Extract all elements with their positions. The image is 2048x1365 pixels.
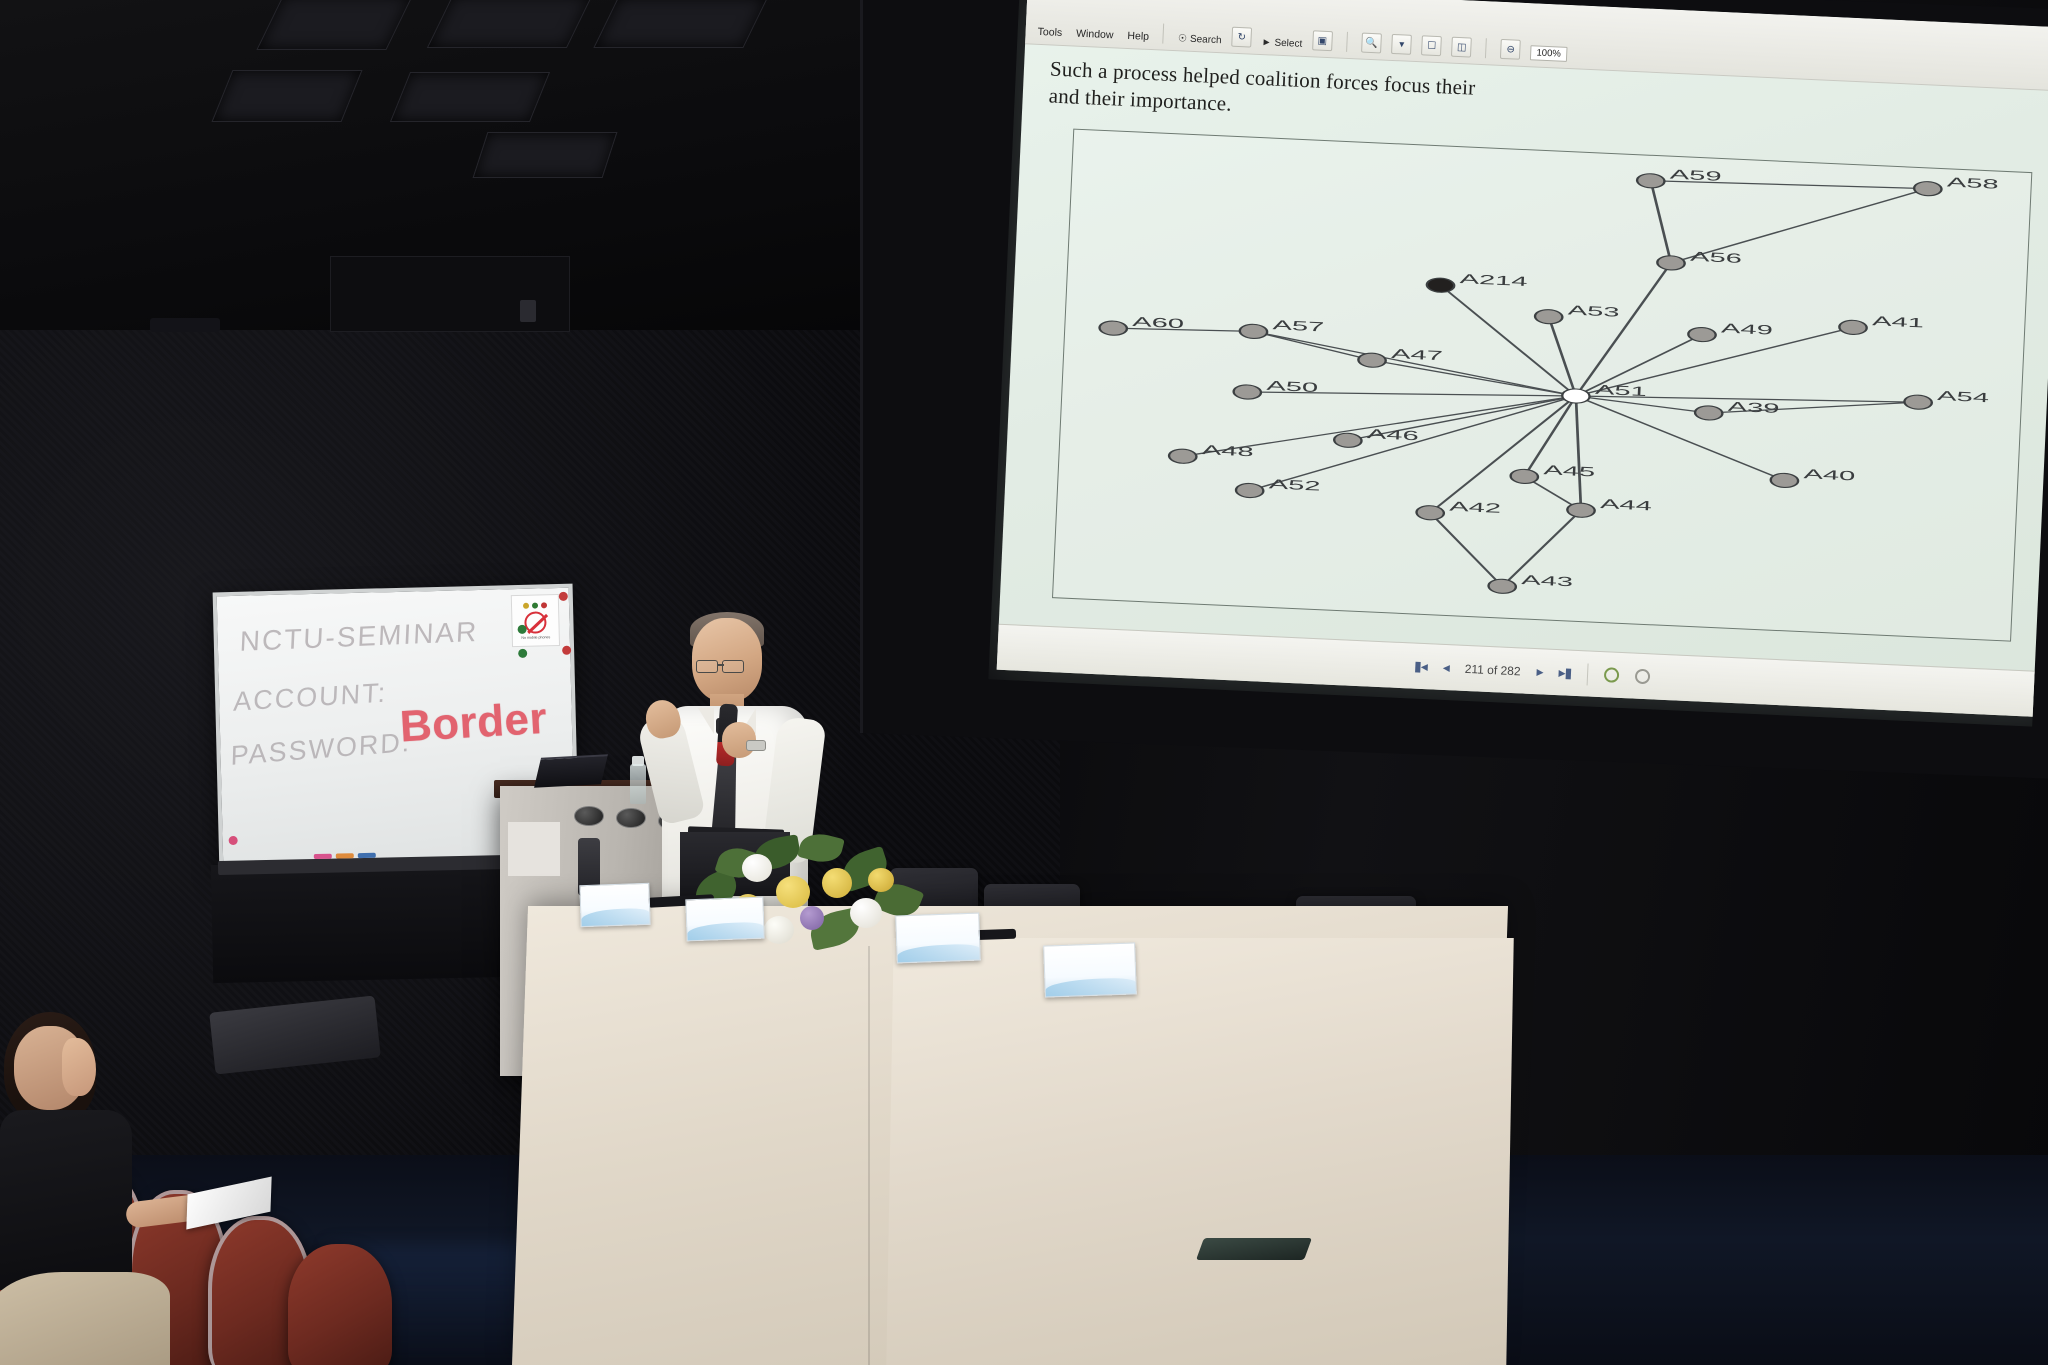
- audience-member-lap: [0, 1272, 170, 1365]
- graph-node: A56: [1657, 247, 1742, 273]
- toolbar-separator-2: [1346, 32, 1348, 52]
- fit-page-icon[interactable]: ☐: [1421, 35, 1442, 56]
- podium-speaker-grille-1: [574, 806, 604, 826]
- graph-node-label: A45: [1543, 462, 1595, 479]
- graph-node-label: A46: [1367, 426, 1419, 443]
- sign-color-dots: [523, 602, 547, 609]
- last-page-icon[interactable]: ▸▮: [1558, 664, 1571, 682]
- magnet-red-1: [559, 592, 568, 601]
- graph-node-label: A56: [1690, 249, 1742, 266]
- graph-node-label: A57: [1272, 317, 1324, 334]
- magnet-pink-1: [229, 836, 238, 845]
- chevron-down-icon[interactable]: ▾: [1391, 34, 1412, 55]
- graph-node-label: A43: [1521, 572, 1573, 589]
- graph-node: A43: [1488, 571, 1573, 597]
- snapshot-icon[interactable]: ▣: [1312, 30, 1333, 51]
- graph-node: A214: [1427, 270, 1528, 296]
- page-indicator: 211 of 282: [1464, 661, 1520, 678]
- eyeglasses-right-lens-icon: [722, 660, 744, 673]
- podium-speaker-grille-2: [616, 808, 646, 828]
- fit-width-icon[interactable]: ◫: [1451, 37, 1472, 58]
- graph-node: A50: [1233, 377, 1318, 403]
- marker-orange: [336, 853, 354, 858]
- graph-edge: [1371, 360, 1577, 396]
- graph-node-label: A42: [1449, 499, 1501, 516]
- nameplate-4: [1043, 942, 1137, 997]
- no-mobile-phones-sign: No mobile phones: [511, 594, 560, 647]
- select-tool[interactable]: ► Select: [1261, 37, 1302, 50]
- magnet-red-2: [562, 646, 571, 655]
- search-icon: ☉: [1178, 33, 1187, 44]
- flower-yellow-1: [776, 876, 810, 908]
- zoom-level-field[interactable]: 100%: [1530, 45, 1567, 62]
- next-page-icon[interactable]: ▸: [1536, 663, 1543, 680]
- graph-node: A60: [1099, 313, 1184, 339]
- flower-yellow-4: [868, 868, 894, 892]
- flower-white-3: [764, 916, 794, 944]
- toolbar-separator-3: [1485, 38, 1487, 58]
- table-seam: [868, 946, 870, 1365]
- zoom-out-icon[interactable]: ⊖: [1500, 39, 1521, 60]
- graph-node-label: A60: [1132, 314, 1184, 331]
- graph-node-label: A47: [1391, 346, 1443, 363]
- no-phone-icon: [524, 611, 547, 634]
- graph-node-label: A41: [1872, 313, 1924, 330]
- podium-laptop[interactable]: [534, 754, 608, 787]
- graph-node: A45: [1510, 461, 1595, 487]
- magnet-green-2: [518, 649, 527, 658]
- graph-node-label: A52: [1268, 477, 1320, 494]
- graph-node-label: A58: [1947, 175, 1999, 192]
- first-page-icon[interactable]: ▮◂: [1414, 658, 1427, 676]
- nameplate-1: [579, 883, 650, 927]
- toolbar-separator: [1163, 24, 1165, 44]
- select-label: Select: [1274, 38, 1302, 50]
- graph-node-label: A54: [1937, 388, 1989, 405]
- graph-node-label: A40: [1803, 466, 1855, 483]
- eyeglasses-left-lens-icon: [696, 660, 718, 673]
- whiteboard-title-text: NCTU-SEMINAR: [239, 616, 479, 658]
- graph-node-label: A53: [1567, 303, 1619, 320]
- graph-edge: [1576, 259, 1671, 400]
- menu-bar[interactable]: Tools Window Help: [1037, 26, 1149, 43]
- network-graph-figure: A59A58A56A214A53A49A41A60A57A47A54A51A39…: [1052, 129, 2032, 642]
- graph-node: A58: [1914, 173, 1999, 199]
- graph-node: A52: [1236, 475, 1321, 501]
- graph-edge: [1252, 331, 1373, 360]
- nameplate-4-wave: [1045, 977, 1136, 996]
- nameplate-2: [685, 897, 764, 942]
- graph-node: A40: [1770, 465, 1855, 491]
- menu-item-window[interactable]: Window: [1076, 28, 1114, 42]
- nameplate-1-wave: [581, 908, 650, 926]
- projection-screen: Tools Window Help ☉ Search ↻ ► Select ▣ …: [988, 0, 2048, 727]
- flower-white-2: [850, 898, 882, 928]
- graph-edge: [1647, 181, 1675, 263]
- fit-width-circle-icon[interactable]: [1635, 669, 1651, 685]
- whiteboard-password-label: PASSWORD:: [230, 727, 411, 772]
- graph-node-label: A48: [1202, 442, 1254, 459]
- network-graph-svg: A59A58A56A214A53A49A41A60A57A47A54A51A39…: [1053, 130, 2031, 641]
- wristwatch: [746, 740, 766, 751]
- pdf-viewer-window: Tools Window Help ☉ Search ↻ ► Select ▣ …: [997, 0, 2048, 718]
- flower-purple-1: [800, 906, 824, 930]
- menu-item-tools[interactable]: Tools: [1037, 26, 1062, 39]
- whiteboard-password-value: Border: [399, 694, 549, 753]
- menu-item-help[interactable]: Help: [1127, 30, 1149, 43]
- graph-edge: [1427, 513, 1505, 587]
- graph-node-label: A214: [1459, 271, 1528, 289]
- graph-node: A59: [1637, 165, 1722, 191]
- rotate-icon[interactable]: ↻: [1231, 27, 1252, 48]
- whiteboard-account-label: ACCOUNT:: [233, 677, 388, 717]
- graph-node: A54: [1904, 387, 1989, 413]
- flower-yellow-2: [822, 868, 852, 898]
- speaker-collar-left: [698, 708, 714, 734]
- graph-node: A41: [1839, 312, 1924, 338]
- whiteboard-stand: [211, 859, 513, 983]
- search-tool[interactable]: ☉ Search: [1178, 33, 1222, 46]
- zoom-tool-icon[interactable]: 🔍: [1361, 33, 1382, 54]
- graph-edge: [1436, 285, 1581, 396]
- nameplate-3: [895, 913, 981, 964]
- graph-node-label: A59: [1670, 167, 1722, 184]
- eyeglasses-bridge: [718, 664, 724, 666]
- audience-member-torso: [0, 1110, 132, 1290]
- graph-node-label: A44: [1600, 496, 1652, 513]
- graph-node: A53: [1535, 301, 1620, 327]
- theater-seat-5: [288, 1244, 392, 1365]
- marker-pink: [314, 854, 332, 859]
- graph-node: A46: [1334, 425, 1419, 451]
- graph-node-label: A51: [1595, 382, 1647, 399]
- graph-node-label: A39: [1728, 399, 1780, 416]
- graph-edge: [1571, 396, 1586, 510]
- podium-instruction-card: [508, 822, 560, 876]
- sign-caption: No mobile phones: [521, 635, 550, 640]
- table-tablet-device[interactable]: [1196, 1238, 1312, 1260]
- graph-node-label: A50: [1266, 378, 1318, 395]
- graph-node: A42: [1416, 497, 1501, 523]
- marker-blue: [358, 853, 376, 858]
- footer-separator: [1587, 663, 1589, 685]
- presentation-room-scene: Tools Window Help ☉ Search ↻ ► Select ▣ …: [0, 0, 2048, 1365]
- graph-node: A48: [1169, 441, 1254, 467]
- search-label: Search: [1190, 34, 1222, 46]
- flower-white-1: [742, 854, 772, 882]
- conference-table-right: [886, 938, 1514, 1365]
- graph-node: A39: [1695, 398, 1780, 424]
- graph-node-label: A49: [1721, 321, 1773, 338]
- nameplate-3-wave: [897, 944, 980, 963]
- graph-node: A51: [1562, 381, 1647, 407]
- select-icon: ►: [1261, 37, 1271, 48]
- nameplate-2-wave: [687, 922, 764, 941]
- graph-node: A49: [1688, 319, 1773, 345]
- previous-page-icon[interactable]: ◂: [1442, 659, 1449, 676]
- water-bottle: [630, 764, 646, 804]
- fit-page-circle-icon[interactable]: [1604, 667, 1620, 683]
